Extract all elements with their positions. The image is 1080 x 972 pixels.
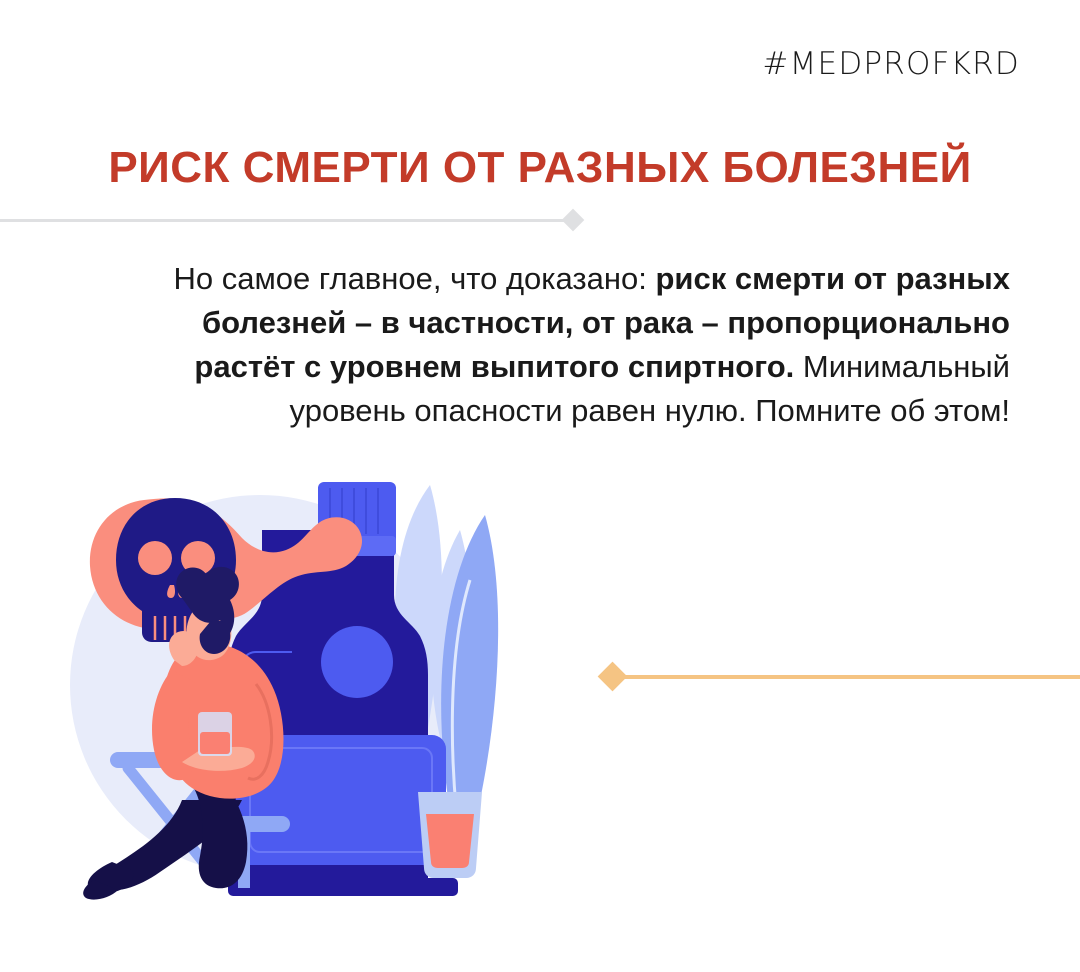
divider-line-top bbox=[0, 219, 575, 222]
divider-line-bottom bbox=[614, 675, 1080, 679]
poster-canvas: #MEDPROFKRD РИСК СМЕРТИ ОТ РАЗНЫХ БОЛЕЗН… bbox=[0, 0, 1080, 972]
divider-diamond-top bbox=[562, 209, 585, 232]
body-paragraph: Но самое главное, что доказано: риск сме… bbox=[150, 257, 1010, 433]
body-segment-intro: Но самое главное, что доказано: bbox=[173, 261, 655, 296]
shot-glass-shape bbox=[418, 792, 482, 878]
hashtag-label: #MEDPROFKRD bbox=[762, 46, 1020, 82]
illustration-man-drinking bbox=[70, 470, 530, 900]
page-title: РИСК СМЕРТИ ОТ РАЗНЫХ БОЛЕЗНЕЙ bbox=[0, 143, 1080, 193]
